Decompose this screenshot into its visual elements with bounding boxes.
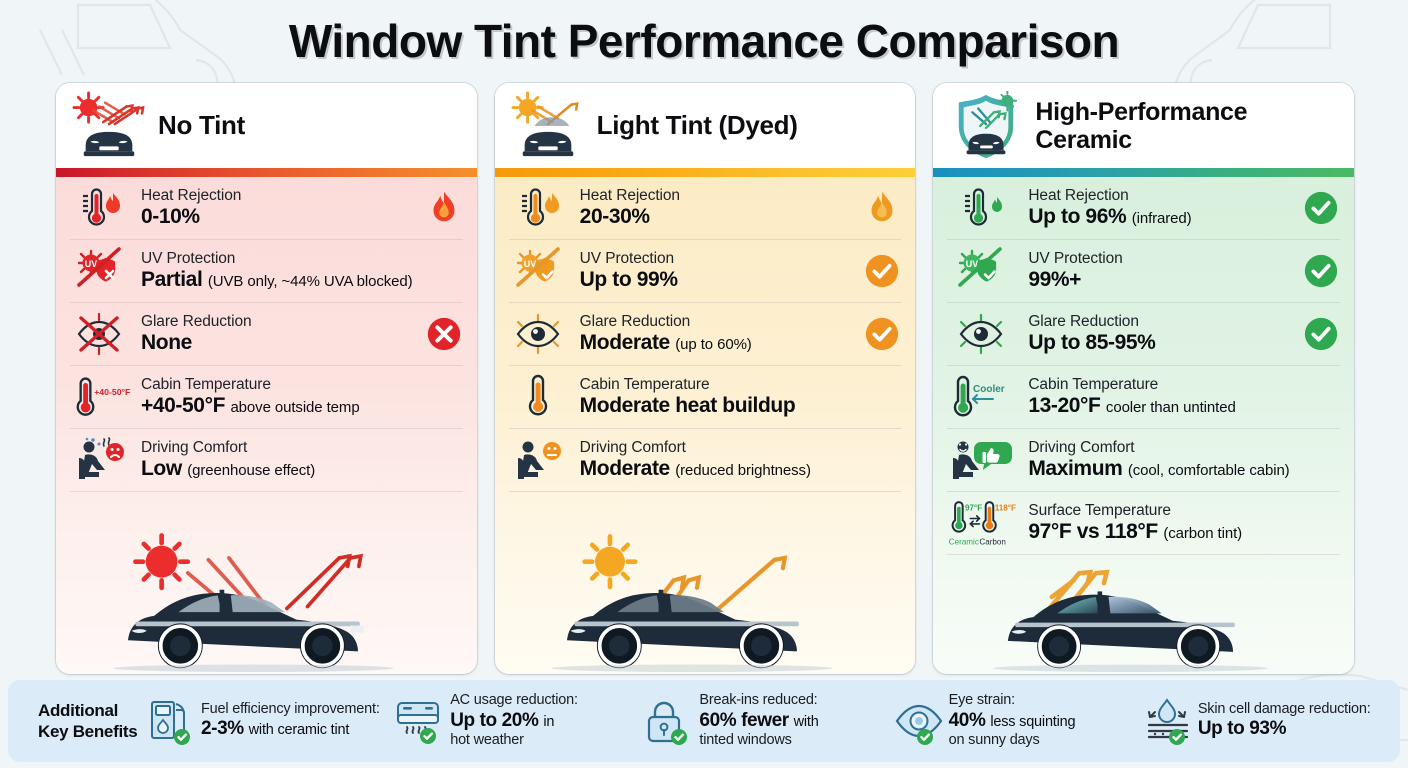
driver-thumbsup-icon — [947, 435, 1019, 485]
row-value: Up to 85-95% — [1028, 330, 1293, 355]
row-label: Heat Rejection — [580, 187, 855, 205]
row-driving-comfort: Driving Comfort Moderate (reduced bright… — [509, 429, 902, 492]
row-value: None — [141, 330, 416, 355]
row-text: Cabin Temperature Moderate heat buildup — [580, 376, 855, 419]
padlock-icon — [644, 696, 692, 746]
row-label: Cabin Temperature — [1028, 376, 1293, 394]
row-uv-protection: UV UV Protection Partial (UVB only, ~44%… — [70, 240, 463, 303]
row-label: Glare Reduction — [1028, 313, 1293, 331]
row-label: Heat Rejection — [141, 187, 416, 205]
benefit-label: AC usage reduction: — [450, 692, 578, 709]
driver-neutral-icon — [509, 435, 571, 485]
benefit-label: Eye strain: — [949, 692, 1076, 709]
row-label: Glare Reduction — [141, 313, 416, 331]
benefit-label: Skin cell damage reduction: — [1198, 701, 1371, 718]
car-illustration-no-tint — [70, 492, 463, 674]
check-circle-icon — [863, 252, 901, 290]
row-glare-reduction: Glare Reduction Moderate (up to 60%) — [509, 303, 902, 366]
row-heat-rejection: Heat Rejection 20-30% — [509, 177, 902, 240]
accent-bar-ceramic — [933, 168, 1354, 177]
card-no-tint: No Tint — [56, 83, 477, 674]
row-label: Surface Temperature — [1028, 502, 1293, 520]
row-value: 13-20°F cooler than untinted — [1028, 393, 1293, 418]
row-text: Surface Temperature 97°F vs 118°F (carbo… — [1028, 502, 1293, 545]
fuel-pump-icon — [146, 696, 194, 746]
benefit-ac-usage: AC usage reduction: Up to 20% in hot wea… — [395, 692, 638, 750]
benefit-text: Fuel efficiency improvement: 2-3% with c… — [201, 701, 380, 741]
row-text: Heat Rejection 0-10% — [141, 187, 416, 230]
eye-icon — [894, 696, 942, 746]
benefit-value: 40% less squinting — [949, 710, 1076, 733]
check-circle-icon — [1302, 315, 1340, 353]
footer-title: Additional Key Benefits — [22, 700, 140, 743]
infographic-page: Window Tint Performance Comparison — [0, 0, 1408, 768]
check-circle-icon — [863, 315, 901, 353]
sun-rays-through-tinted-car-icon — [509, 91, 587, 161]
row-label: Glare Reduction — [580, 313, 855, 331]
row-value: 97°F vs 118°F (carbon tint) — [1028, 519, 1293, 544]
row-glare-reduction: Glare Reduction Up to 85-95% — [947, 303, 1340, 366]
eye-crossed-icon — [70, 309, 132, 359]
svg-text:UV: UV — [966, 259, 979, 269]
row-text: UV Protection Up to 99% — [580, 250, 855, 293]
row-cabin-temperature: Cabin Temperature Moderate heat buildup — [509, 366, 902, 429]
row-cabin-temperature: Cooler Cabin Temperature 13-20°F cooler … — [947, 366, 1340, 429]
benefit-value: 60% fewer with — [699, 710, 818, 733]
row-text: Cabin Temperature 13-20°F cooler than un… — [1028, 376, 1293, 419]
benefit-label: Break-ins reduced: — [699, 692, 818, 709]
page-title: Window Tint Performance Comparison — [0, 14, 1408, 68]
row-text: Glare Reduction None — [141, 313, 416, 356]
row-driving-comfort: Driving Comfort Maximum (cool, comfortab… — [947, 429, 1340, 492]
benefit-skin-damage: Skin cell damage reduction: Up to 93% — [1143, 696, 1386, 746]
card-title-no-tint: No Tint — [158, 111, 245, 140]
comparison-cards: No Tint — [56, 83, 1354, 674]
benefit-eye-strain: Eye strain: 40% less squinting on sunny … — [894, 692, 1137, 750]
thermometer-cool-icon: Cooler — [947, 372, 1019, 422]
row-value: 99%+ — [1028, 267, 1293, 292]
thermometer-flame-green-icon — [947, 183, 1019, 233]
icon-caption-a: 97°F — [965, 503, 982, 512]
two-thermometers-compare-icon: 97°F Ceramic 118°F Carbon — [947, 498, 1019, 548]
row-value: Partial (UVB only, ~44% UVA blocked) — [141, 267, 416, 292]
rows-light-tint: Heat Rejection 20-30% — [495, 177, 916, 674]
air-conditioner-icon — [395, 696, 443, 746]
uv-shield-green-icon: UV — [947, 246, 1019, 296]
card-light-tint: Light Tint (Dyed) — [495, 83, 916, 674]
flame-icon — [425, 189, 463, 227]
row-label: Cabin Temperature — [141, 376, 416, 394]
thermometer-flame-icon — [509, 183, 571, 233]
row-text: Glare Reduction Moderate (up to 60%) — [580, 313, 855, 356]
skin-layer-droplet-icon — [1143, 696, 1191, 746]
benefit-text: Break-ins reduced: 60% fewer with tinted… — [699, 692, 818, 750]
row-value: Maximum (cool, comfortable cabin) — [1028, 456, 1293, 481]
row-text: UV Protection Partial (UVB only, ~44% UV… — [141, 250, 416, 293]
benefit-value: Up to 20% in — [450, 710, 578, 733]
thermometer-flame-icon — [70, 183, 132, 233]
row-text: Heat Rejection 20-30% — [580, 187, 855, 230]
row-value: 0-10% — [141, 204, 416, 229]
row-label: Driving Comfort — [141, 439, 416, 457]
car-illustration-ceramic — [947, 555, 1340, 674]
row-uv-protection: UV UV Protection 99%+ — [947, 240, 1340, 303]
benefit-line2: tinted windows — [699, 732, 818, 749]
footer-title-line2: Key Benefits — [38, 721, 140, 742]
icon-caption: +40-50°F — [94, 387, 130, 397]
row-value: Moderate heat buildup — [580, 393, 855, 418]
row-text: Driving Comfort Maximum (cool, comfortab… — [1028, 439, 1293, 482]
benefit-text: Skin cell damage reduction: Up to 93% — [1198, 701, 1371, 741]
benefit-label: Fuel efficiency improvement: — [201, 701, 380, 718]
row-label: Cabin Temperature — [580, 376, 855, 394]
card-header-ceramic: High-Performance Ceramic — [933, 83, 1354, 168]
sun-rays-through-car-icon — [70, 91, 148, 161]
car-illustration-light-tint — [509, 492, 902, 674]
row-label: UV Protection — [1028, 250, 1293, 268]
card-ceramic: High-Performance Ceramic — [933, 83, 1354, 674]
check-circle-icon — [1302, 252, 1340, 290]
row-value: 20-30% — [580, 204, 855, 229]
additional-benefits-bar: Additional Key Benefits — [8, 680, 1400, 762]
svg-text:UV: UV — [523, 259, 536, 269]
benefit-break-ins: Break-ins reduced: 60% fewer with tinted… — [644, 692, 887, 750]
eye-sun-icon — [509, 309, 571, 359]
svg-text:UV: UV — [85, 259, 98, 269]
card-title-ceramic: High-Performance Ceramic — [1035, 98, 1340, 154]
row-driving-comfort: Driving Comfort Low (greenhouse effect) — [70, 429, 463, 492]
row-heat-rejection: Heat Rejection 0-10% — [70, 177, 463, 240]
row-value: Up to 99% — [580, 267, 855, 292]
eye-bright-icon — [947, 309, 1019, 359]
rows-no-tint: Heat Rejection 0-10% — [56, 177, 477, 674]
benefit-text: AC usage reduction: Up to 20% in hot wea… — [450, 692, 578, 750]
uv-shield-icon: UV — [509, 246, 571, 296]
row-text: Driving Comfort Low (greenhouse effect) — [141, 439, 416, 482]
row-value: +40-50°F above outside temp — [141, 393, 416, 418]
row-label: Driving Comfort — [1028, 439, 1293, 457]
row-label: Heat Rejection — [1028, 187, 1293, 205]
row-surface-temperature: 97°F Ceramic 118°F Carbon — [947, 492, 1340, 555]
benefit-value: 2-3% with ceramic tint — [201, 718, 380, 741]
row-cabin-temperature: +40-50°F Cabin Temperature +40-50°F abov… — [70, 366, 463, 429]
benefit-text: Eye strain: 40% less squinting on sunny … — [949, 692, 1076, 750]
benefit-line2: hot weather — [450, 732, 578, 749]
row-label: UV Protection — [141, 250, 416, 268]
icon-foot-b: Carbon — [980, 538, 1007, 547]
row-heat-rejection: Heat Rejection Up to 96% (infrared) — [947, 177, 1340, 240]
row-text: UV Protection 99%+ — [1028, 250, 1293, 293]
thermometer-warm-icon — [509, 372, 571, 422]
row-value: Moderate (up to 60%) — [580, 330, 855, 355]
uv-blocked-shield-icon: UV — [70, 246, 132, 296]
row-label: Driving Comfort — [580, 439, 855, 457]
accent-bar-no-tint — [56, 168, 477, 177]
row-value: Low (greenhouse effect) — [141, 456, 416, 481]
icon-caption: Cooler — [973, 384, 1005, 395]
benefit-fuel-efficiency: Fuel efficiency improvement: 2-3% with c… — [146, 696, 389, 746]
benefit-line2: on sunny days — [949, 732, 1076, 749]
card-header-light-tint: Light Tint (Dyed) — [495, 83, 916, 168]
row-glare-reduction: Glare Reduction None — [70, 303, 463, 366]
driver-unhappy-icon — [70, 435, 132, 485]
row-text: Cabin Temperature +40-50°F above outside… — [141, 376, 416, 419]
row-text: Driving Comfort Moderate (reduced bright… — [580, 439, 855, 482]
footer-title-line1: Additional — [38, 700, 140, 721]
shield-car-protection-icon — [947, 91, 1025, 161]
row-value: Up to 96% (infrared) — [1028, 204, 1293, 229]
card-header-no-tint: No Tint — [56, 83, 477, 168]
thermometer-hot-icon: +40-50°F — [70, 372, 132, 422]
flame-icon — [863, 189, 901, 227]
row-text: Glare Reduction Up to 85-95% — [1028, 313, 1293, 356]
rows-ceramic: Heat Rejection Up to 96% (infrared) — [933, 177, 1354, 674]
card-title-light-tint: Light Tint (Dyed) — [597, 111, 798, 140]
x-circle-icon — [425, 315, 463, 353]
benefit-value: Up to 93% — [1198, 718, 1371, 741]
row-text: Heat Rejection Up to 96% (infrared) — [1028, 187, 1293, 230]
row-value: Moderate (reduced brightness) — [580, 456, 855, 481]
icon-foot-a: Ceramic — [949, 538, 979, 547]
row-uv-protection: UV UV Protection Up to 99% — [509, 240, 902, 303]
icon-caption-b: 118°F — [995, 503, 1016, 512]
accent-bar-light-tint — [495, 168, 916, 177]
check-circle-icon — [1302, 189, 1340, 227]
row-label: UV Protection — [580, 250, 855, 268]
